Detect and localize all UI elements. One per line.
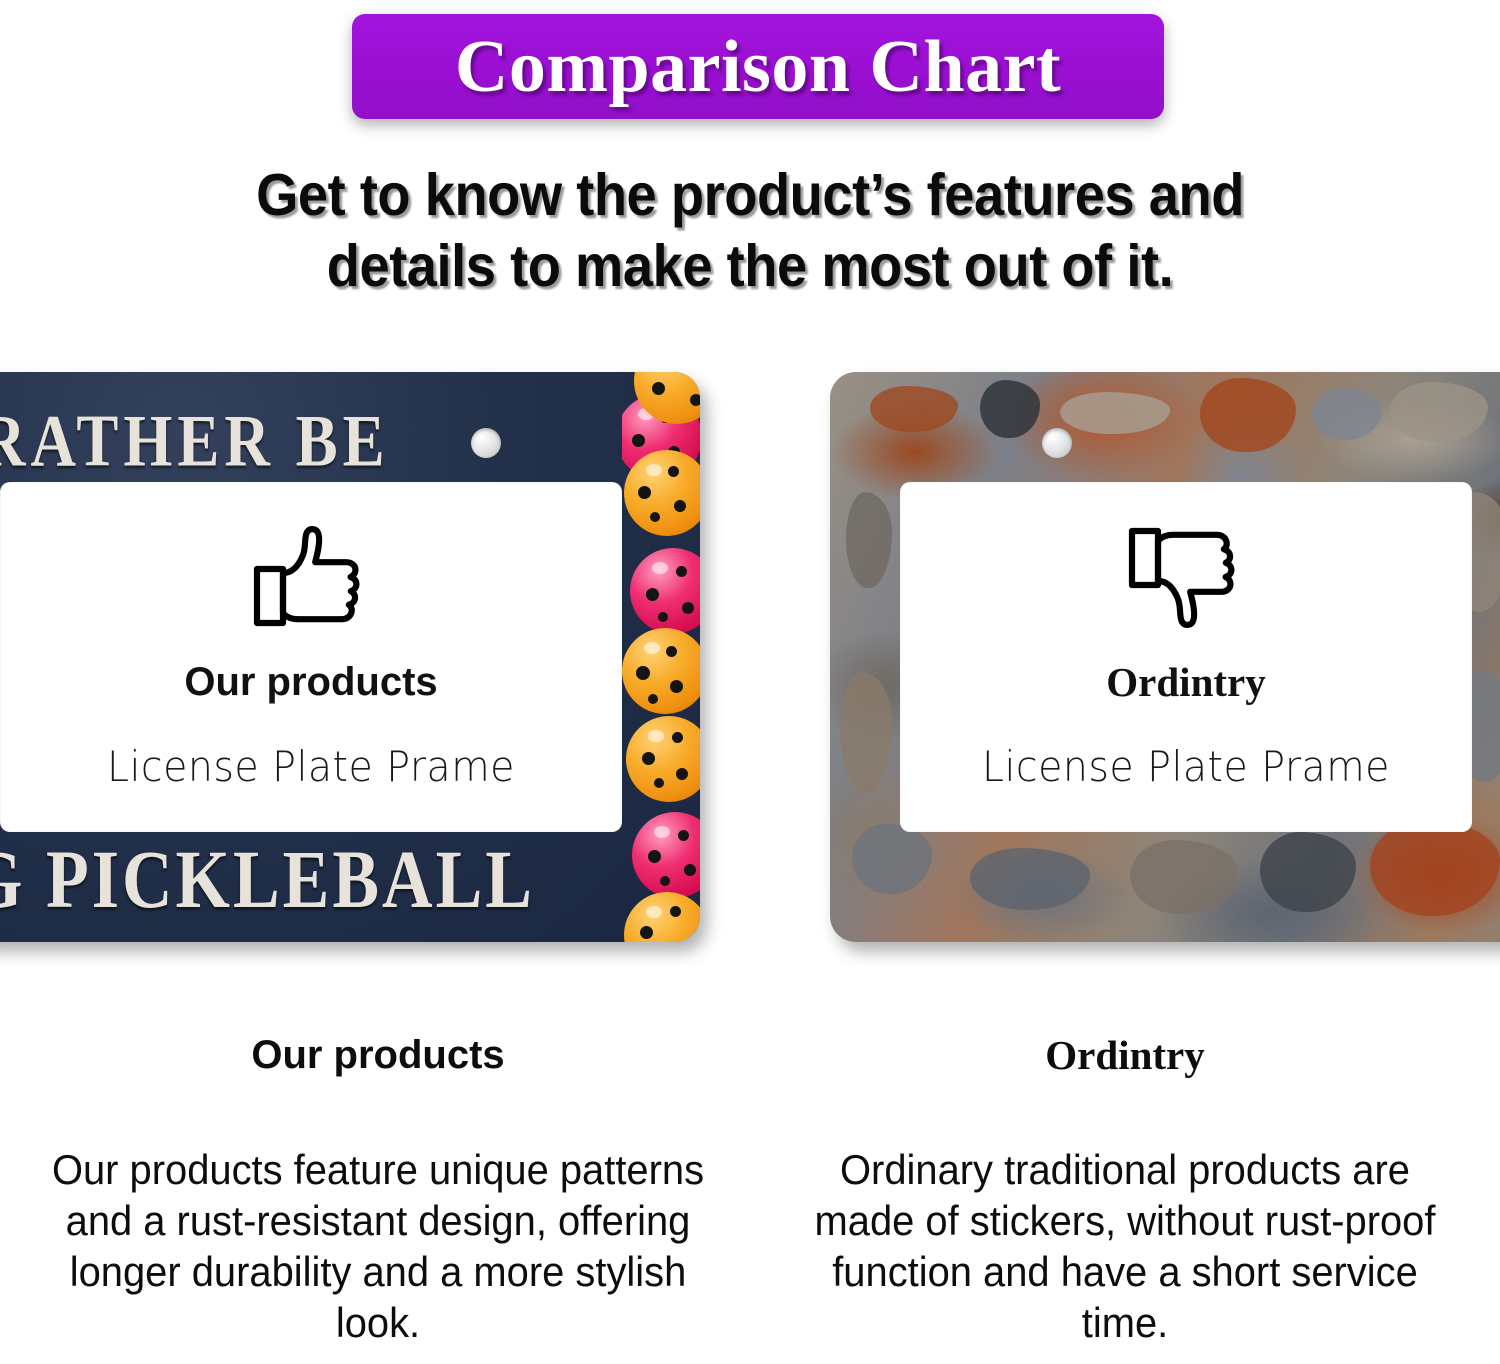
header: Comparison Chart Get to know the product…	[0, 0, 1500, 330]
rust-patch	[970, 848, 1090, 910]
pickleball-icon	[624, 892, 700, 942]
our-product-heading: Our products	[28, 1032, 728, 1078]
pickleball-decoration	[622, 372, 700, 942]
page-title: Comparison Chart	[455, 30, 1061, 104]
ordinary-product-heading: Ordintry	[775, 1032, 1475, 1078]
plate-window-right: Ordintry License Plate Prame	[900, 482, 1472, 832]
thumbs-up-icon	[253, 525, 369, 634]
pickleball-icon	[626, 716, 700, 802]
our-product-description: Our products feature unique patterns and…	[46, 1144, 711, 1348]
pickleball-icon	[630, 548, 700, 634]
product-name-left: Our products	[184, 660, 437, 704]
rust-patch	[870, 386, 958, 432]
subtitle: Get to know the product’s features and d…	[0, 160, 1500, 302]
ordinary-product-description: Ordinary traditional products are made o…	[793, 1144, 1458, 1348]
our-product-description-column: Our products Our products feature unique…	[28, 1010, 728, 1348]
rust-patch	[1060, 392, 1170, 434]
rust-patch	[1200, 378, 1296, 452]
plate-window-left: Our products License Plate Prame	[0, 482, 622, 832]
bolt-hole-icon	[1042, 428, 1072, 458]
title-banner: Comparison Chart	[352, 14, 1164, 119]
rust-patch	[840, 672, 892, 792]
rust-patch	[1260, 832, 1356, 912]
description-row: Our products Our products feature unique…	[0, 1010, 1500, 1364]
rust-patch	[980, 380, 1040, 438]
pickleball-icon	[624, 450, 700, 536]
frame-bottom-text: G PICKLEBALL	[0, 843, 700, 917]
thumbs-down-icon	[1128, 525, 1244, 634]
subtitle-line-2: details to make the most out of it.	[60, 231, 1440, 302]
rust-patch	[1370, 820, 1500, 916]
ordinary-product-frame: Ordintry License Plate Prame	[830, 360, 1500, 950]
product-comparison-images: RATHER BE G PICKLEBALL	[0, 360, 1500, 960]
product-name-right: Ordintry	[1106, 660, 1265, 704]
subtitle-line-1: Get to know the product’s features and	[60, 160, 1440, 231]
product-type-left: License Plate Prame	[107, 744, 515, 790]
pickleball-icon	[632, 812, 700, 898]
rust-patch	[1312, 388, 1382, 440]
product-type-right: License Plate Prame	[982, 744, 1390, 790]
rust-patch	[852, 824, 932, 894]
frame-top-text: RATHER BE	[0, 404, 700, 478]
rust-patch	[1390, 382, 1488, 442]
license-plate-frame-rusty: Ordintry License Plate Prame	[830, 372, 1500, 942]
rust-patch	[1130, 840, 1238, 914]
our-product-frame: RATHER BE G PICKLEBALL	[0, 360, 700, 950]
bolt-hole-icon	[471, 428, 501, 458]
ordinary-product-description-column: Ordintry Ordinary traditional products a…	[775, 1010, 1475, 1348]
license-plate-frame-navy: RATHER BE G PICKLEBALL	[0, 372, 700, 942]
rust-patch	[846, 492, 892, 588]
pickleball-icon	[622, 628, 700, 714]
